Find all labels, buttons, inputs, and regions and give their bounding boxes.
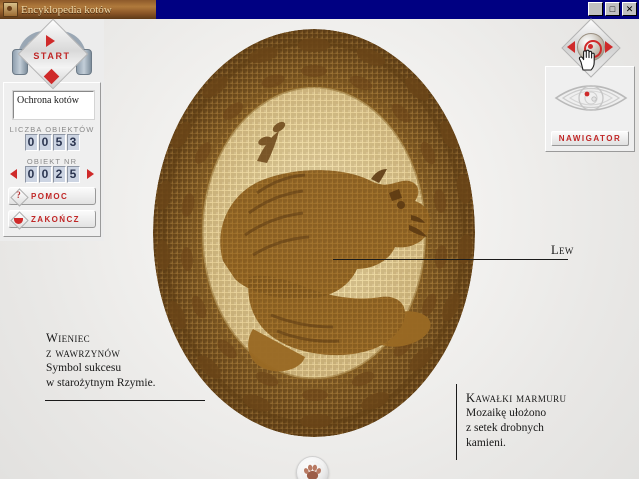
annotation-kawalki-marmuru: Kawałki marmuru Mozaikę ułożono z setek … [466,391,566,451]
start-button-label: START [24,51,80,61]
window-titlebar: Encyklopedia kotów _ □ ✕ [0,0,639,19]
title-plate: Encyklopedia kotów [0,0,156,19]
maximize-button[interactable]: □ [605,2,620,16]
leader-line-wieniec [45,400,205,401]
eye-icon-svg [554,75,628,121]
application-window: Encyklopedia kotów _ □ ✕ [0,0,639,479]
left-panel-body: Ochrona kotów LICZBA OBIEKTÓW 0 0 5 3 OB… [3,82,101,237]
maximize-icon: □ [606,3,619,15]
leader-line-lew [333,259,568,260]
navigator-button[interactable]: NAWIGATOR [551,131,629,146]
annotation-wieniec-line-3: w starożytnym Rzymie. [46,376,156,391]
annotation-kawalki-line-1: Mozaikę ułożono [466,406,566,421]
object-digit: 0 [25,166,38,183]
annotation-wieniec-line-1: z wawrzynów [46,346,156,361]
window-controls: _ □ ✕ [588,2,637,16]
roman-mosaic-lion-image [153,29,475,437]
start-diamond-marker-icon [44,69,60,85]
total-digit: 5 [53,134,66,151]
quit-button[interactable]: ZAKOŃCZ [8,210,96,228]
minimize-icon: _ [589,5,602,17]
help-button-label: POMOC [31,192,68,201]
total-objects-counter: 0 0 5 3 [4,134,100,151]
start-button[interactable]: START [10,25,94,87]
quit-button-label: ZAKOŃCZ [31,215,80,224]
close-icon: ✕ [623,3,636,15]
window-title: Encyklopedia kotów [21,4,112,16]
object-digit: 2 [53,166,66,183]
annotation-wieniec-line-2: Symbol sukcesu [46,361,156,376]
object-digit: 5 [67,166,80,183]
paw-inner-disc [301,461,324,479]
annotation-lew-heading: Lew [551,243,574,258]
object-number-counter: 0 0 2 5 [4,166,100,183]
annotation-kawalki-heading: Kawałki marmuru [466,391,566,406]
hand-cursor-svg [577,49,597,71]
next-object-arrow-icon[interactable] [87,169,94,179]
navigator-next-arrow-icon[interactable] [605,41,613,53]
start-face: START [24,27,80,83]
help-button[interactable]: ? POMOC [8,187,96,205]
object-name-field[interactable]: Ochrona kotów [13,91,94,119]
annotation-wieniec-heading: Wieniec [46,331,156,346]
cat-paw-icon [301,461,324,479]
navigator-prev-arrow-icon[interactable] [567,41,575,53]
question-diamond-icon: ? [11,189,26,204]
object-number-label: OBIEKT NR [4,157,100,166]
annotation-lew: Lew [551,243,574,258]
total-digit: 0 [39,134,52,151]
total-objects-label: LICZBA OBIEKTÓW [4,125,100,134]
exit-diamond-icon [11,212,26,227]
minimize-button[interactable]: _ [588,2,603,16]
eye-icon [554,75,628,121]
object-digit: 0 [39,166,52,183]
close-button[interactable]: ✕ [622,2,637,16]
leader-line-kawalki-marmuru [456,384,457,460]
hand-cursor-icon [577,49,597,71]
left-control-panel: Ochrona kotów LICZBA OBIEKTÓW 0 0 5 3 OB… [0,19,104,241]
book-icon [3,2,18,17]
play-triangle-icon [46,35,55,47]
annotation-kawalki-line-3: kamieni. [466,436,566,451]
mosaic-image-container[interactable] [153,29,475,437]
annotation-wieniec: Wieniec z wawrzynów Symbol sukcesu w sta… [46,331,156,391]
annotation-kawalki-line-2: z setek drobnych [466,421,566,436]
total-digit: 3 [67,134,80,151]
right-navigator-panel: NAWIGATOR [543,19,639,159]
navigator-panel-body: NAWIGATOR [545,66,635,152]
total-digit: 0 [25,134,38,151]
